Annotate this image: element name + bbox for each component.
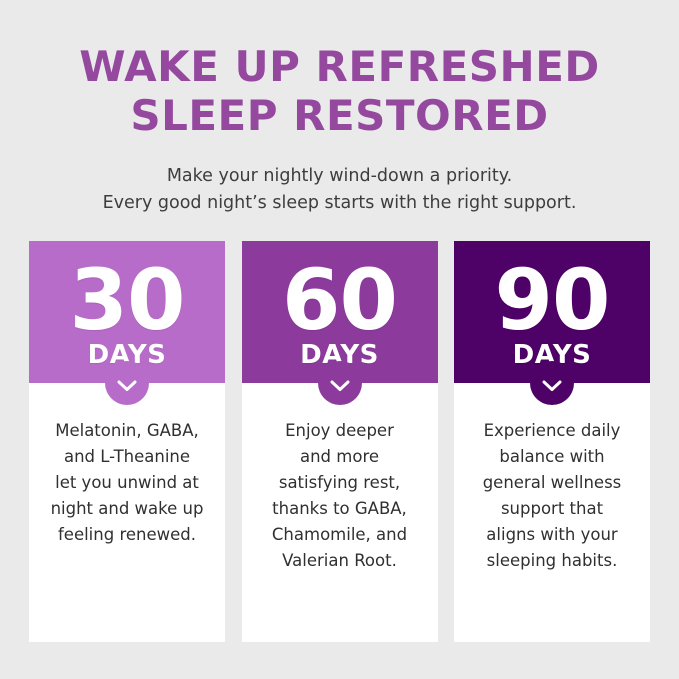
card-body-line: Chamomile, and bbox=[257, 522, 423, 548]
benefit-card-60-days: 60 DAYS Enjoy deeper and more satisfying… bbox=[242, 241, 438, 642]
card-body-line: Valerian Root. bbox=[257, 548, 423, 574]
card-body-line: and more bbox=[257, 444, 423, 470]
chevron-down-icon bbox=[318, 361, 362, 405]
page-title: WAKE UP REFRESHED SLEEP RESTORED bbox=[0, 42, 679, 140]
card-body-line: thanks to GABA, bbox=[257, 496, 423, 522]
card-body-line: feeling renewed. bbox=[44, 522, 210, 548]
card-body-line: support that bbox=[469, 496, 635, 522]
card-body-line: balance with bbox=[469, 444, 635, 470]
card-body-line: Enjoy deeper bbox=[257, 418, 423, 444]
card-body-line: aligns with your bbox=[469, 522, 635, 548]
card-number: 30 bbox=[70, 255, 185, 345]
benefit-card-30-days: 30 DAYS Melatonin, GABA, and L-Theanine … bbox=[29, 241, 225, 642]
card-number: 90 bbox=[495, 255, 610, 345]
card-header-60-days: 60 DAYS bbox=[242, 241, 438, 383]
card-body-line: satisfying rest, bbox=[257, 470, 423, 496]
card-description-60-days: Enjoy deeper and more satisfying rest, t… bbox=[242, 383, 438, 642]
card-header-90-days: 90 DAYS bbox=[454, 241, 650, 383]
benefit-card-90-days: 90 DAYS Experience daily balance with ge… bbox=[454, 241, 650, 642]
card-body-line: Experience daily bbox=[469, 418, 635, 444]
subtitle-line-2: Every good night’s sleep starts with the… bbox=[0, 190, 679, 217]
card-body-line: sleeping habits. bbox=[469, 548, 635, 574]
card-description-30-days: Melatonin, GABA, and L-Theanine let you … bbox=[29, 383, 225, 642]
promo-graphic: WAKE UP REFRESHED SLEEP RESTORED Make yo… bbox=[0, 0, 679, 679]
card-number: 60 bbox=[282, 255, 397, 345]
chevron-down-icon bbox=[105, 361, 149, 405]
page-subtitle: Make your nightly wind-down a priority. … bbox=[0, 163, 679, 217]
card-description-90-days: Experience daily balance with general we… bbox=[454, 383, 650, 642]
subtitle-line-1: Make your nightly wind-down a priority. bbox=[0, 163, 679, 190]
headline-line-2: SLEEP RESTORED bbox=[0, 91, 679, 140]
card-body-line: Melatonin, GABA, bbox=[44, 418, 210, 444]
card-header-30-days: 30 DAYS bbox=[29, 241, 225, 383]
benefit-cards-row: 30 DAYS Melatonin, GABA, and L-Theanine … bbox=[29, 241, 650, 642]
card-body-line: let you unwind at bbox=[44, 470, 210, 496]
card-body-line: and L-Theanine bbox=[44, 444, 210, 470]
headline-line-1: WAKE UP REFRESHED bbox=[0, 42, 679, 91]
card-body-line: night and wake up bbox=[44, 496, 210, 522]
chevron-down-icon bbox=[530, 361, 574, 405]
card-body-line: general wellness bbox=[469, 470, 635, 496]
